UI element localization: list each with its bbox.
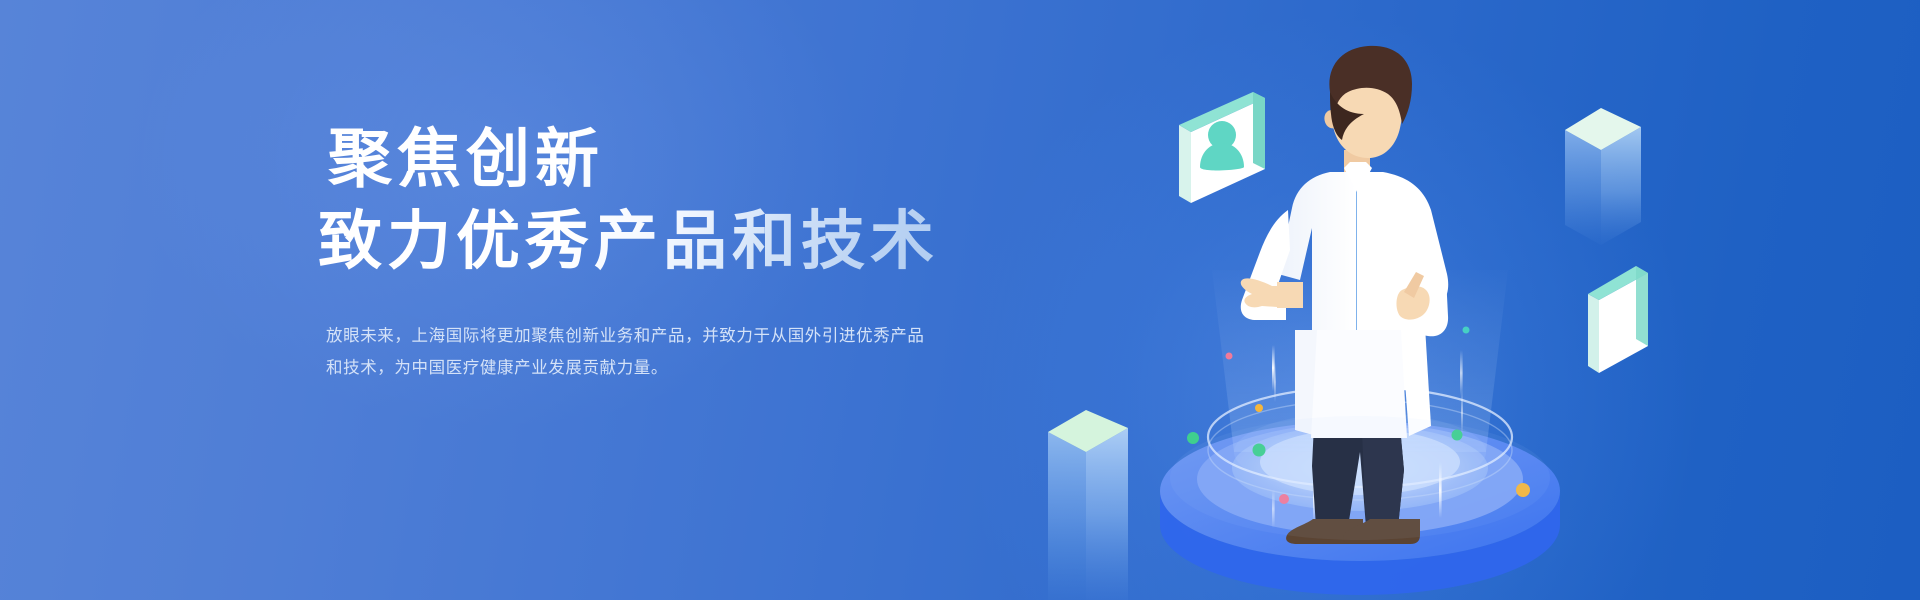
- subtitle-line-2: 和技术，为中国医疗健康产业发展贡献力量。: [326, 352, 1046, 384]
- bar-left-icon: [1048, 410, 1128, 600]
- subtitle-line-1: 放眼未来，上海国际将更加聚焦创新业务和产品，并致力于从国外引进优秀产品: [326, 320, 1046, 352]
- hero-banner: 聚焦创新 致力优秀产品和技术 放眼未来，上海国际将更加聚焦创新业务和产品，并致力…: [0, 0, 1920, 600]
- floating-white-card-icon: [1588, 266, 1648, 373]
- user-id-card-icon: [1179, 92, 1265, 203]
- headline-line-2: 致力优秀产品和技术: [318, 200, 1078, 286]
- headline-line-1: 聚焦创新: [318, 118, 1078, 204]
- platform-haze: [1170, 416, 1550, 540]
- hero-subtitle: 放眼未来，上海国际将更加聚焦创新业务和产品，并致力于从国外引进优秀产品 和技术，…: [318, 286, 1046, 384]
- hero-copy: 聚焦创新 致力优秀产品和技术 放眼未来，上海国际将更加聚焦创新业务和产品，并致力…: [318, 118, 1078, 384]
- bar-right-icon: [1565, 108, 1641, 245]
